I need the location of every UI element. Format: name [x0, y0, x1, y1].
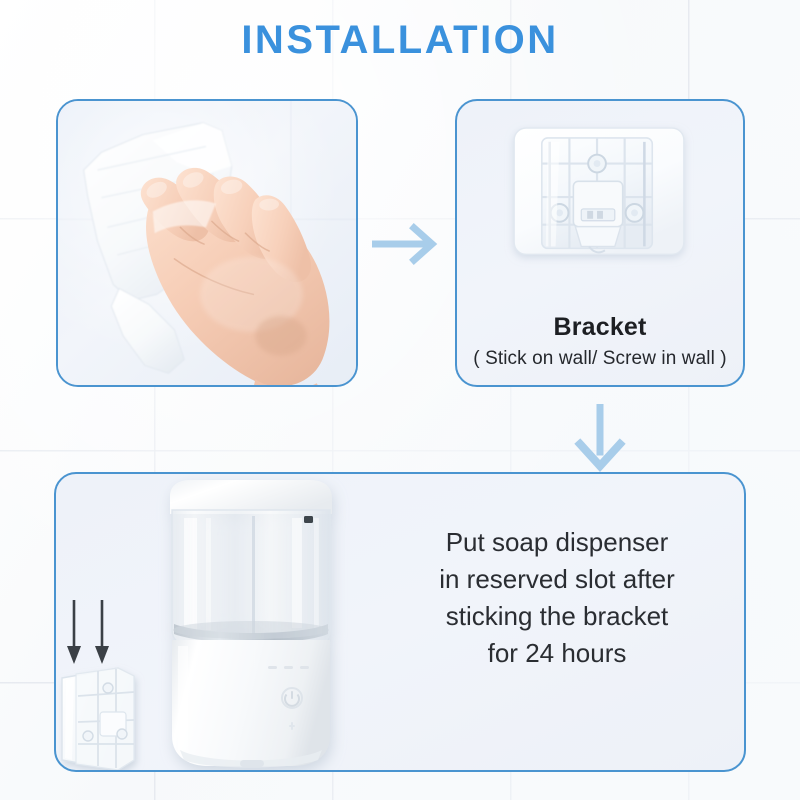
hand-wiping-wall-illustration [58, 101, 356, 385]
mount-line-1: Put soap dispenser [392, 524, 722, 561]
arrow-right-icon [372, 222, 444, 266]
mount-instruction-text: Put soap dispenser in reserved slot afte… [392, 524, 722, 672]
mount-line-3: sticking the bracket [392, 598, 722, 635]
mount-line-4: for 24 hours [392, 635, 722, 672]
slide-arrows [67, 600, 109, 664]
bracket-caption: Bracket ( Stick on wall/ Screw in wall ) [457, 313, 743, 370]
mount-line-2: in reserved slot after [392, 561, 722, 598]
bracket-subtitle: ( Stick on wall/ Screw in wall ) [457, 348, 743, 370]
step-panel-bracket: Bracket ( Stick on wall/ Screw in wall ) [455, 99, 745, 387]
bracket-title: Bracket [457, 313, 743, 342]
arrow-down-icon [573, 404, 627, 472]
wall-bracket-illustration [457, 101, 743, 306]
page-title: INSTALLATION [0, 18, 800, 63]
step-panel-mount-dispenser: Put soap dispenser in reserved slot afte… [54, 472, 746, 772]
step-panel-clean-surface [56, 99, 358, 387]
